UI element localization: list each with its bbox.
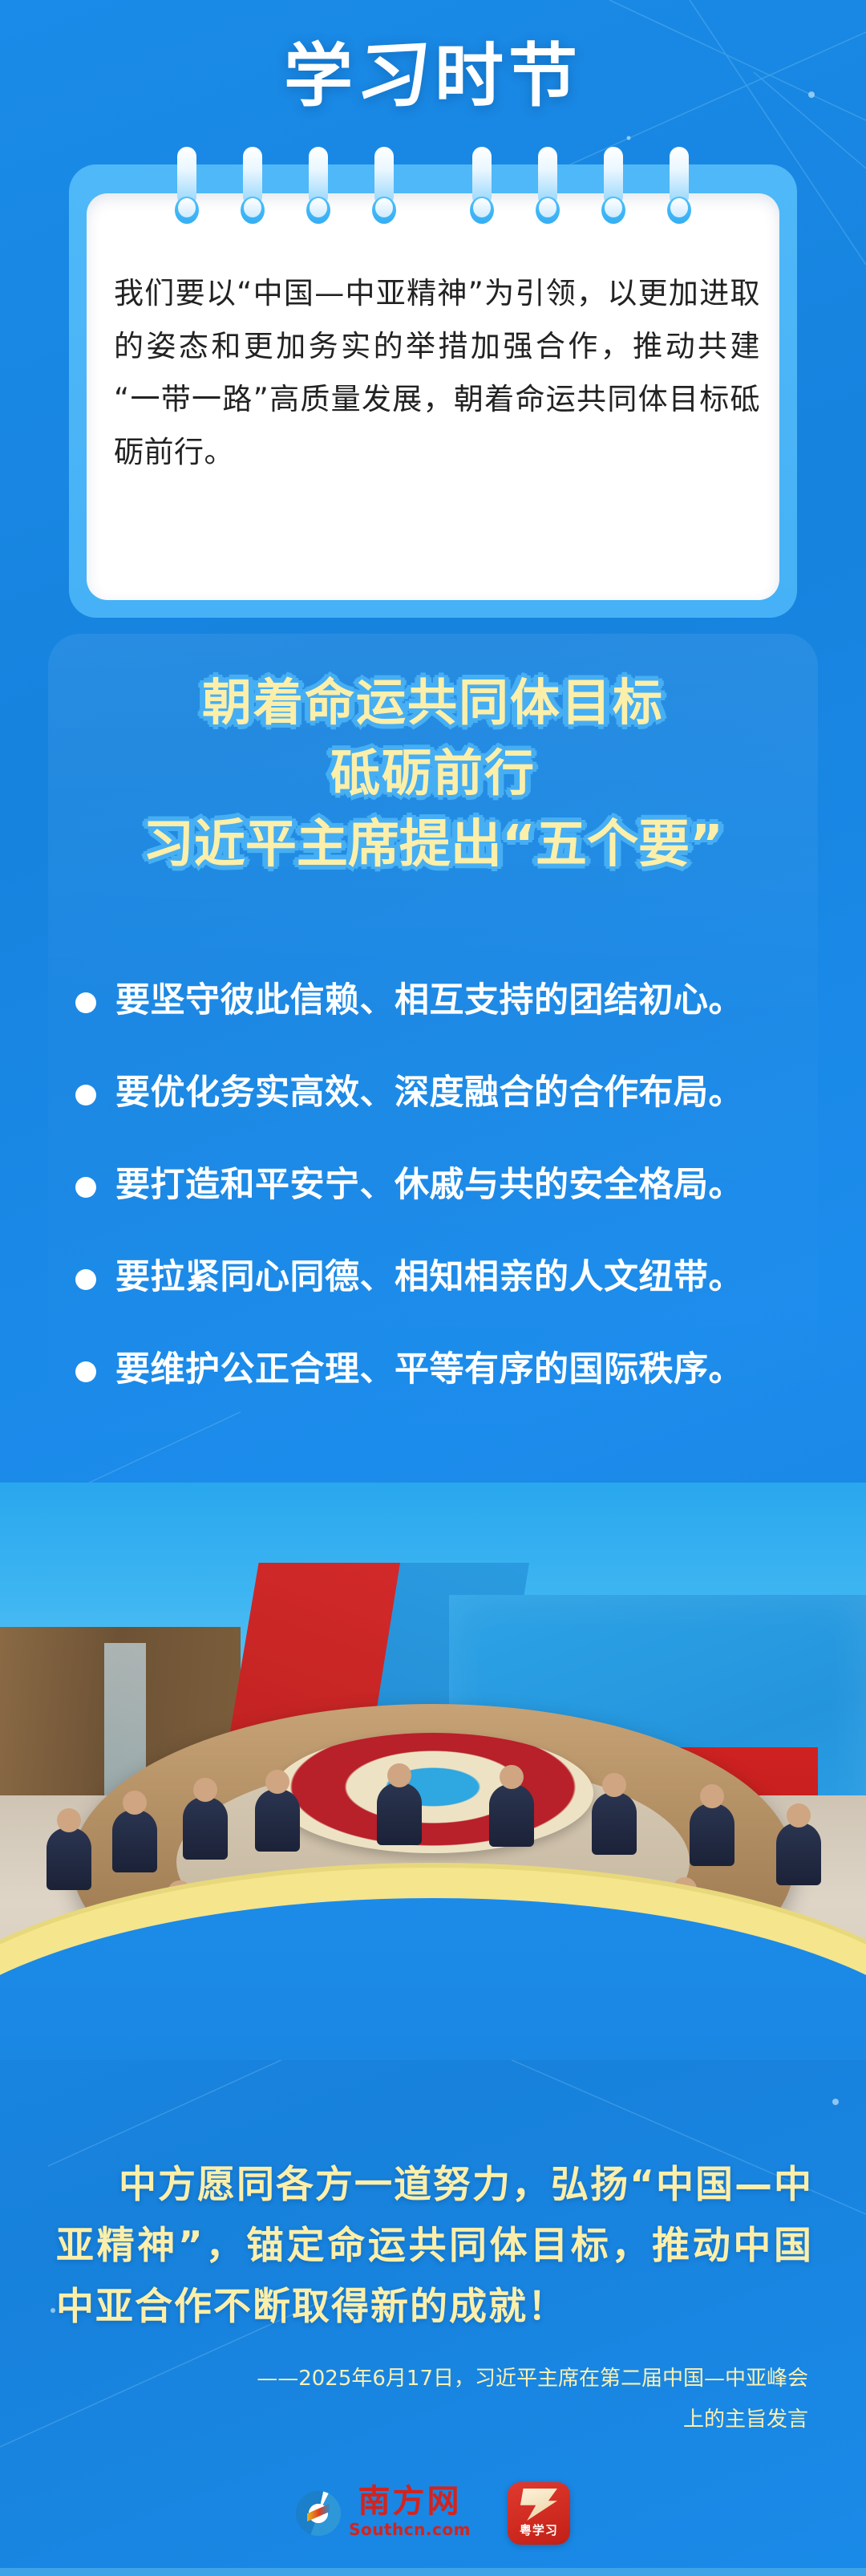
headline-block: 朝着命运共同体目标 砥砺前行 习近平主席提出“五个要”	[48, 667, 818, 882]
yuexuexi-logo[interactable]: 粤学习	[508, 2482, 570, 2545]
bullet-dot-icon	[75, 992, 96, 1013]
headline-line-1: 朝着命运共同体目标	[48, 667, 818, 738]
headline-line-3: 习近平主席提出“五个要”	[48, 809, 818, 882]
list-item-label: 要打造和平安宁、休戚与共的安全格局。	[115, 1165, 743, 1207]
list-item: 要优化务实高效、深度融合的合作布局。	[48, 1047, 818, 1139]
delegate	[183, 1797, 228, 1860]
southcn-logo-en: Southcn.com	[349, 2517, 471, 2542]
yuexuexi-mark-icon	[520, 2489, 557, 2521]
quote-card-text: 我们要以“中国—中亚精神”为引领，以更加进取的姿态和更加务实的举措加强合作，推动…	[114, 267, 760, 478]
list-item-label: 要优化务实高效、深度融合的合作布局。	[115, 1073, 743, 1114]
bottom-quote-text: 中方愿同各方一道努力，弘扬“中国—中亚精神”，锚定命运共同体目标，推动中国中亚合…	[56, 2155, 813, 2338]
attribution-line-1: ——2025年6月17日，习近平主席在第二届中国—中亚峰会	[56, 2359, 808, 2400]
delegate	[47, 1828, 91, 1890]
footer-strip	[0, 2568, 866, 2576]
bullet-dot-icon	[75, 1177, 96, 1198]
bullet-dot-icon	[75, 1269, 96, 1290]
list-item: 要坚守彼此信赖、相互支持的团结初心。	[48, 955, 818, 1047]
quote-attribution: ——2025年6月17日，习近平主席在第二届中国—中亚峰会 上的主旨发言	[56, 2359, 808, 2440]
list-item-label: 要拉紧同心同德、相知相亲的人文纽带。	[115, 1257, 743, 1299]
bullet-dot-icon	[75, 1361, 96, 1382]
headline-line-2: 砥砺前行	[48, 738, 818, 809]
page-title: 学习时节	[284, 42, 582, 111]
delegate	[112, 1810, 157, 1872]
delegate	[255, 1789, 300, 1852]
list-item: 要打造和平安宁、休戚与共的安全格局。	[48, 1139, 818, 1231]
bottom-section: 中方愿同各方一道努力，弘扬“中国—中亚精神”，锚定命运共同体目标，推动中国中亚合…	[0, 2060, 866, 2576]
delegate	[776, 1823, 821, 1885]
attribution-line-2: 上的主旨发言	[56, 2400, 808, 2440]
title-part-after: 时节	[435, 36, 582, 116]
floral-centerpiece	[273, 1733, 593, 1853]
poster-root: 学习时节 我们要以“中国—中亚精神”为引领，以更加进取的姿态和更加务实的举措加强…	[0, 0, 866, 2576]
poster-header: 学习时节	[0, 0, 866, 146]
southcn-swirl-icon	[296, 2491, 341, 2536]
list-item: 要拉紧同心同德、相知相亲的人文纽带。	[48, 1231, 818, 1324]
title-part-accent: 习	[354, 39, 439, 114]
bottom-quote-body: 中方愿同各方一道努力，弘扬“中国—中亚精神”，锚定命运共同体目标，推动中国中亚合…	[56, 2163, 813, 2329]
delegate	[489, 1784, 534, 1847]
highlights-panel: 朝着命运共同体目标 砥砺前行 习近平主席提出“五个要” 要坚守彼此信赖、相互支持…	[48, 634, 818, 1484]
southcn-logo[interactable]: 南方网 Southcn.com	[296, 2485, 471, 2542]
footer-logos: 南方网 Southcn.com 粤学习	[0, 2482, 866, 2545]
summit-photo: 第二届中国—中亚峰会 2025年6月17日 阿斯塔纳	[0, 1483, 866, 2060]
delegate	[690, 1803, 734, 1866]
bullet-list: 要坚守彼此信赖、相互支持的团结初心。 要优化务实高效、深度融合的合作布局。 要打…	[48, 955, 818, 1416]
delegate	[592, 1792, 637, 1855]
southcn-logo-cn: 南方网	[358, 2485, 462, 2517]
yuexuexi-label: 粤学习	[520, 2521, 558, 2538]
delegate	[377, 1783, 422, 1845]
title-part-before: 学	[284, 36, 358, 116]
list-item-label: 要坚守彼此信赖、相互支持的团结初心。	[115, 980, 743, 1022]
bullet-dot-icon	[75, 1085, 96, 1105]
list-item: 要维护公正合理、平等有序的国际秩序。	[48, 1324, 818, 1416]
list-item-label: 要维护公正合理、平等有序的国际秩序。	[115, 1349, 743, 1391]
quote-card: 我们要以“中国—中亚精神”为引领，以更加进取的姿态和更加务实的举措加强合作，推动…	[69, 164, 797, 618]
